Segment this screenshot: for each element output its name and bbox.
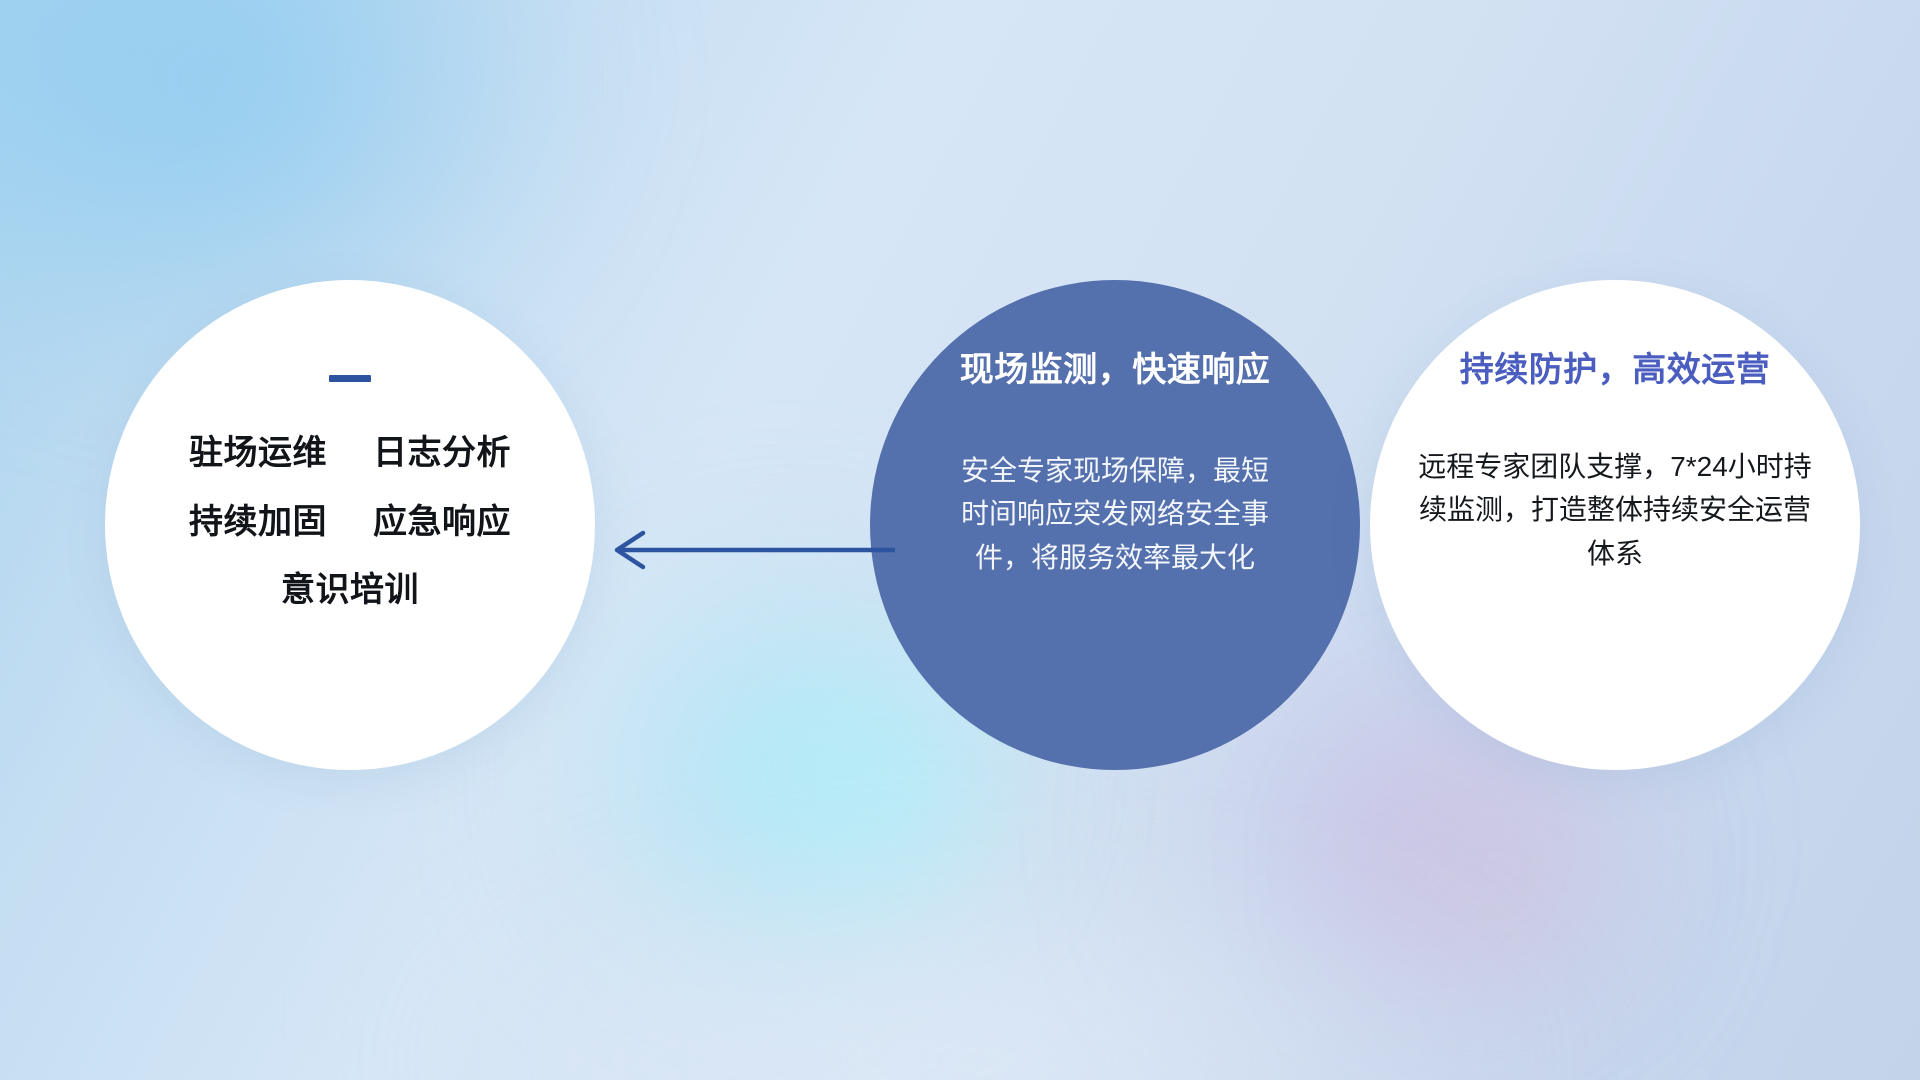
continuous-protection-title: 持续防护，高效运营 <box>1460 342 1771 391</box>
continuous-protection-circle[interactable]: 持续防护，高效运营 远程专家团队支撑，7*24小时持续监测，打造整体持续安全运营… <box>1370 280 1860 770</box>
arrow-left-icon <box>595 520 895 580</box>
onsite-monitoring-title: 现场监测，快速响应 <box>960 342 1271 391</box>
service-capability-circle[interactable]: 驻场运维 日志分析 持续加固 应急响应 意识培训 <box>105 280 595 770</box>
keyword-label: 日志分析 <box>373 434 511 472</box>
continuous-protection-body: 远程专家团队支撑，7*24小时持续监测，打造整体持续安全运营体系 <box>1418 445 1813 575</box>
keyword-label: 意识培训 <box>281 571 419 609</box>
onsite-monitoring-body: 安全专家现场保障，最短时间响应突发网络安全事件，将服务效率最大化 <box>950 449 1280 579</box>
short-dash-divider-icon <box>329 375 371 382</box>
onsite-monitoring-circle[interactable]: 现场监测，快速响应 安全专家现场保障，最短时间响应突发网络安全事件，将服务效率最… <box>870 280 1360 770</box>
keyword-label: 持续加固 <box>189 503 327 541</box>
keyword-row: 持续加固 应急响应 <box>189 505 511 541</box>
keyword-row: 意识培训 <box>281 573 419 609</box>
keyword-label: 应急响应 <box>373 503 511 541</box>
slide-canvas: 驻场运维 日志分析 持续加固 应急响应 意识培训 现场监测，快速响应 安全专家现… <box>0 0 1920 1080</box>
background-glow-bottom <box>380 880 1580 1080</box>
keyword-label: 驻场运维 <box>189 434 327 472</box>
keyword-row: 驻场运维 日志分析 <box>189 436 511 472</box>
